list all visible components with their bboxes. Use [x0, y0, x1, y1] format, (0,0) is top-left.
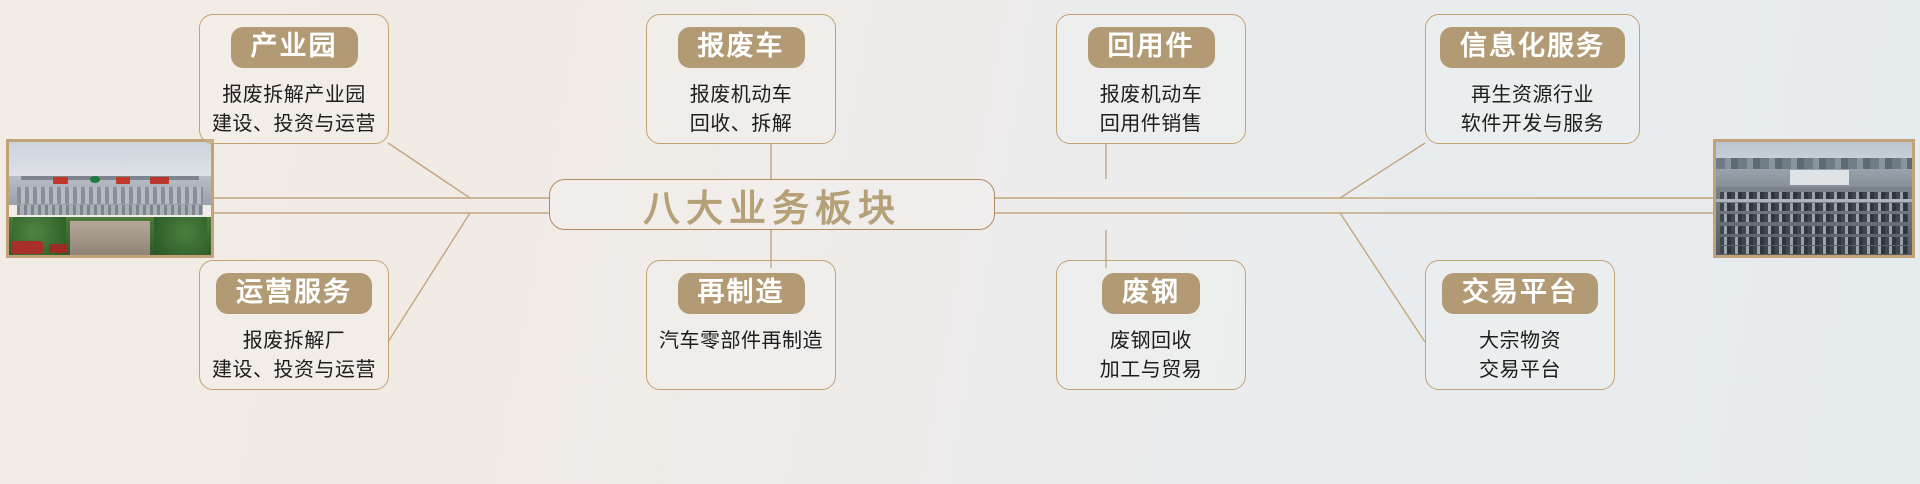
card-reusable-parts[interactable]: 回用件 报废机动车 回用件销售	[1056, 14, 1246, 144]
card-desc-remanufacturing: 汽车零部件再制造	[659, 327, 823, 355]
card-label-scrap-steel: 废钢	[1102, 273, 1200, 314]
card-remanufacturing[interactable]: 再制造 汽车零部件再制造	[646, 260, 836, 390]
card-desc-trading-platform: 大宗物资 交易平台	[1479, 327, 1561, 384]
card-desc-operation-service: 报废拆解厂 建设、投资与运营	[212, 327, 376, 384]
card-label-industrial-park: 产业园	[231, 27, 358, 68]
card-scrap-steel[interactable]: 废钢 废钢回收 加工与贸易	[1056, 260, 1246, 390]
card-label-informatization-service: 信息化服务	[1440, 27, 1625, 68]
card-label-scrap-vehicle: 报废车	[678, 27, 805, 68]
card-trading-platform[interactable]: 交易平台 大宗物资 交易平台	[1425, 260, 1615, 390]
card-label-reusable-parts: 回用件	[1088, 27, 1215, 68]
card-desc-industrial-park: 报废拆解产业园 建设、投资与运营	[212, 81, 376, 138]
card-label-operation-service: 运营服务	[216, 273, 372, 314]
business-segments-diagram: 八大业务板块 产业园 报废拆解产业园 建设、投资与运营 报废车 报废机动车 回收…	[0, 0, 1920, 484]
center-node-eight-business-segments: 八大业务板块	[549, 179, 995, 230]
card-informatization-service[interactable]: 信息化服务 再生资源行业 软件开发与服务	[1425, 14, 1640, 144]
card-desc-scrap-steel: 废钢回收 加工与贸易	[1100, 327, 1203, 384]
card-label-trading-platform: 交易平台	[1442, 273, 1598, 314]
photo-office-building	[6, 139, 214, 258]
center-title: 八大业务板块	[643, 178, 901, 232]
photo-dismantling-yard	[1713, 139, 1915, 258]
card-label-remanufacturing: 再制造	[678, 273, 805, 314]
card-industrial-park[interactable]: 产业园 报废拆解产业园 建设、投资与运营	[199, 14, 389, 144]
card-desc-informatization-service: 再生资源行业 软件开发与服务	[1461, 81, 1605, 138]
card-desc-scrap-vehicle: 报废机动车 回收、拆解	[690, 81, 793, 138]
card-scrap-vehicle[interactable]: 报废车 报废机动车 回收、拆解	[646, 14, 836, 144]
card-desc-reusable-parts: 报废机动车 回用件销售	[1100, 81, 1203, 138]
card-operation-service[interactable]: 运营服务 报废拆解厂 建设、投资与运营	[199, 260, 389, 390]
